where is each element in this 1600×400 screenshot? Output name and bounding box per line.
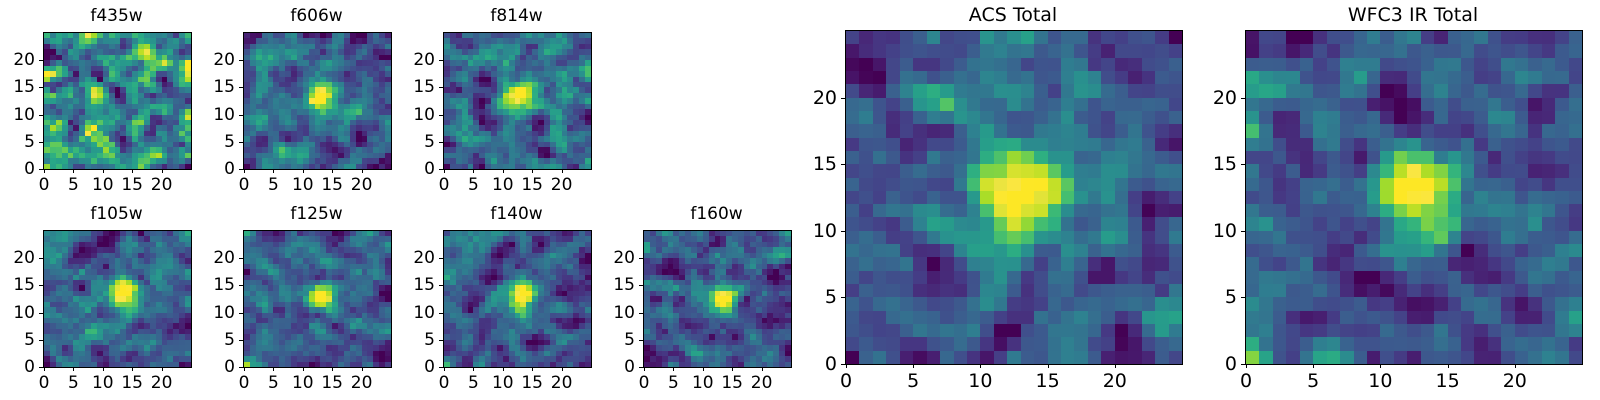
heatmap-cell (1088, 178, 1101, 191)
heatmap-cell (1021, 98, 1034, 111)
heatmap-cell (1074, 98, 1087, 111)
x-tick (762, 367, 763, 371)
heatmap-cell (980, 244, 993, 257)
heatmap-cell (1048, 164, 1061, 177)
heatmap-cell (846, 138, 859, 151)
heatmap-cell (1007, 164, 1020, 177)
heatmap-cell (1128, 217, 1141, 230)
heatmap-cell (1034, 191, 1047, 204)
heatmap-cell (900, 231, 913, 244)
y-tick-label: 15 (583, 275, 635, 295)
heatmap-cell (846, 217, 859, 230)
heatmap-cell (1061, 204, 1074, 217)
heatmap-cell (873, 178, 886, 191)
heatmap-cell (873, 164, 886, 177)
heatmap-cell (900, 244, 913, 257)
heatmap-cell (900, 178, 913, 191)
heatmap-cell (1034, 151, 1047, 164)
heatmap-cell (1088, 58, 1101, 71)
heatmap-cell (1007, 217, 1020, 230)
y-tick (239, 115, 243, 116)
heatmap-cell (1115, 58, 1128, 71)
heatmap-cell (1128, 178, 1141, 191)
heatmap-cell (846, 191, 859, 204)
heatmap-cell (1142, 231, 1155, 244)
heatmap-cell (1142, 84, 1155, 97)
x-tick-label: 0 (39, 175, 50, 195)
heatmap-cell (967, 98, 980, 111)
heatmap-cell (1155, 44, 1168, 57)
heatmap-cell (1007, 257, 1020, 270)
heatmap-cell (980, 71, 993, 84)
heatmap-cell (886, 44, 899, 57)
heatmap-cell (1155, 204, 1168, 217)
panel-f435w: f435w0055101015152020 (0, 6, 200, 202)
x-tick (332, 367, 333, 371)
heatmap-cell (954, 98, 967, 111)
panel-f606w: f606w0055101015152020 (183, 6, 400, 202)
heatmap-cell (994, 257, 1007, 270)
x-tick-label: 15 (721, 373, 743, 393)
x-tick (503, 169, 504, 173)
heatmap-cell (980, 151, 993, 164)
heatmap-cell (1101, 84, 1114, 97)
heatmap-cell (1021, 151, 1034, 164)
x-tick (703, 367, 704, 371)
heatmap-cell (859, 231, 872, 244)
heatmap-cell (900, 58, 913, 71)
heatmap-cell (1021, 257, 1034, 270)
y-tick (239, 285, 243, 286)
x-tick (473, 367, 474, 371)
x-tick-label: 15 (321, 373, 343, 393)
heatmap-cell (940, 244, 953, 257)
heatmap-cell (1169, 44, 1182, 57)
y-tick (39, 340, 43, 341)
heatmap-cell (1021, 164, 1034, 177)
y-tick-label: 10 (0, 303, 35, 323)
heatmap-cell (1074, 71, 1087, 84)
x-tick (162, 367, 163, 371)
heatmap-cell (1048, 231, 1061, 244)
heatmap-cell (1088, 44, 1101, 57)
heatmap-cell (940, 111, 953, 124)
heatmap-cell (1088, 244, 1101, 257)
heatmap-cell (1007, 178, 1020, 191)
heatmap-cell (967, 124, 980, 137)
heatmap-cell (873, 244, 886, 257)
heatmap-cell (1048, 217, 1061, 230)
heatmap-cell (940, 31, 953, 44)
heatmap-cell (913, 111, 926, 124)
heatmap-cell (1128, 71, 1141, 84)
y-tick (239, 340, 243, 341)
heatmap-cell (980, 58, 993, 71)
heatmap-cell (886, 204, 899, 217)
x-tick-label: 5 (68, 373, 79, 393)
x-tick-label: 10 (692, 373, 714, 393)
heatmap-cell (1142, 217, 1155, 230)
heatmap-cell (913, 44, 926, 57)
heatmap-cell (1021, 124, 1034, 137)
heatmap-cell (873, 151, 886, 164)
heatmap-cell (1021, 138, 1034, 151)
heatmap-cell (1101, 257, 1114, 270)
heatmap-cell (1074, 44, 1087, 57)
y-tick-label: 15 (183, 77, 235, 97)
heatmap-cell (1074, 138, 1087, 151)
heatmap-cell (940, 217, 953, 230)
heatmap-cell (913, 244, 926, 257)
heatmap-cell (873, 31, 886, 44)
heatmap-cell (1115, 257, 1128, 270)
heatmap-cell (1061, 191, 1074, 204)
heatmap-cell (1155, 111, 1168, 124)
axes-f105w (43, 230, 192, 368)
x-tick-label: 15 (121, 373, 143, 393)
x-tick (303, 169, 304, 173)
heatmap-cell (994, 124, 1007, 137)
heatmap-cell (1155, 138, 1168, 151)
heatmap-cell (1088, 98, 1101, 111)
heatmap-cell (954, 71, 967, 84)
heatmap-cell (940, 257, 953, 270)
heatmap-cell (1061, 58, 1074, 71)
heatmap-cell (859, 98, 872, 111)
panel-f814w: f814w0055101015152020 (383, 6, 600, 202)
heatmap-cell (886, 31, 899, 44)
heatmap-cell (927, 257, 940, 270)
heatmap-cell (967, 191, 980, 204)
heatmap-cell (1088, 31, 1101, 44)
x-tick-label: 10 (92, 373, 114, 393)
heatmap-cell (859, 244, 872, 257)
heatmap-cell (1021, 231, 1034, 244)
heatmap-cell (954, 257, 967, 270)
y-tick-label: 20 (383, 248, 435, 268)
heatmap-cell (1088, 138, 1101, 151)
heatmap-cell (913, 71, 926, 84)
heatmap-cell (886, 178, 899, 191)
heatmap-cell (940, 58, 953, 71)
heatmap-cell (1007, 58, 1020, 71)
heatmap-cell (967, 217, 980, 230)
y-tick (239, 142, 243, 143)
heatmap-cell (859, 191, 872, 204)
y-tick-label: 20 (183, 50, 235, 70)
heatmap-cell (859, 111, 872, 124)
y-tick-label: 5 (183, 330, 235, 350)
x-tick-label: 5 (268, 373, 279, 393)
heatmap-cell (1007, 191, 1020, 204)
heatmap-cell (1048, 151, 1061, 164)
heatmap-cell (1021, 217, 1034, 230)
heatmap-cell (1088, 71, 1101, 84)
y-tick-label: 0 (183, 357, 235, 377)
heatmap-cell (1101, 244, 1114, 257)
heatmap-cell (1115, 111, 1128, 124)
heatmap-cell (1007, 98, 1020, 111)
x-tick (103, 169, 104, 173)
heatmap-cell (1021, 71, 1034, 84)
heatmap-cell (1115, 244, 1128, 257)
heatmap-cell (1101, 71, 1114, 84)
heatmap-cell (927, 98, 940, 111)
y-tick-label: 0 (383, 159, 435, 179)
heatmap-cell (1142, 58, 1155, 71)
x-tick (532, 367, 533, 371)
heatmap-cell (873, 71, 886, 84)
heatmap-cell (1007, 231, 1020, 244)
heatmap-cell (1128, 98, 1141, 111)
heatmap-cell (1007, 71, 1020, 84)
heatmap-cell (927, 151, 940, 164)
x-tick-label: 20 (351, 175, 373, 195)
heatmap-cell (913, 98, 926, 111)
heatmap-cell (994, 71, 1007, 84)
heatmap-cell (1074, 244, 1087, 257)
heatmap-cell (900, 44, 913, 57)
panel-title-f105w: f105w (43, 204, 190, 224)
heatmap-cell (1061, 231, 1074, 244)
heatmap-cell (1101, 58, 1114, 71)
heatmap-cell (873, 44, 886, 57)
heatmap-cell (927, 178, 940, 191)
heatmap-cell (846, 178, 859, 191)
heatmap-cell (1155, 71, 1168, 84)
heatmap-cell (967, 138, 980, 151)
heatmap-cell (1061, 217, 1074, 230)
heatmap-cell (1021, 31, 1034, 44)
heatmap-cell (967, 111, 980, 124)
heatmap-cell (980, 98, 993, 111)
heatmap-cell (1088, 151, 1101, 164)
heatmap-cell (886, 151, 899, 164)
heatmap-cell (1088, 111, 1101, 124)
x-tick-label: 5 (268, 175, 279, 195)
heatmap-cell (846, 257, 859, 270)
heatmap-cell (1142, 178, 1155, 191)
heatmap-cell (1061, 257, 1074, 270)
y-tick (239, 367, 243, 368)
panel-f140w: f140w0055101015152020 (383, 204, 600, 400)
heatmap-cell (1034, 124, 1047, 137)
heatmap-cell (859, 31, 872, 44)
heatmap-cell (954, 244, 967, 257)
heatmap-cell (886, 244, 899, 257)
heatmap-cell (913, 164, 926, 177)
heatmap-cell (1115, 98, 1128, 111)
heatmap-cell (1155, 217, 1168, 230)
y-tick-label: 20 (383, 50, 435, 70)
x-tick-label: 20 (551, 373, 573, 393)
heatmap-cell (927, 124, 940, 137)
heatmap-cell (1142, 31, 1155, 44)
heatmap-cell (1088, 204, 1101, 217)
heatmap-cell (1021, 58, 1034, 71)
heatmap-cell (859, 124, 872, 137)
heatmap-cell (954, 204, 967, 217)
heatmap-cell (859, 257, 872, 270)
heatmap-cell (873, 257, 886, 270)
heatmap-cell (1155, 98, 1168, 111)
heatmap-cell (1074, 191, 1087, 204)
heatmap-cell (994, 191, 1007, 204)
heatmap-cell (886, 111, 899, 124)
heatmap-cell (1048, 71, 1061, 84)
y-tick (439, 115, 443, 116)
heatmap-cell (1007, 138, 1020, 151)
heatmap-cell (1115, 138, 1128, 151)
y-tick (439, 87, 443, 88)
heatmap-cell (873, 231, 886, 244)
axes-acs-total (845, 30, 1183, 365)
heatmap-cell (1061, 84, 1074, 97)
heatmap-cell (1048, 84, 1061, 97)
heatmap-cell (913, 58, 926, 71)
heatmap-cell (1074, 31, 1087, 44)
heatmap-cell (846, 204, 859, 217)
heatmap-cell (913, 84, 926, 97)
y-tick-label: 20 (583, 248, 635, 268)
y-tick-label: 15 (183, 275, 235, 295)
x-tick (73, 367, 74, 371)
heatmap-cell (900, 98, 913, 111)
heatmap-cell (873, 138, 886, 151)
y-tick (39, 169, 43, 170)
heatmap-cell (873, 111, 886, 124)
heatmap-cell (1101, 138, 1114, 151)
heatmap-cell (1155, 31, 1168, 44)
panel-title-f606w: f606w (243, 6, 390, 26)
heatmap-cell (886, 138, 899, 151)
y-tick (39, 313, 43, 314)
heatmap-cell (1061, 98, 1074, 111)
x-tick-label: 20 (551, 175, 573, 195)
x-tick (362, 169, 363, 173)
y-tick-label: 20 (0, 50, 35, 70)
heatmap-cell (1169, 58, 1182, 71)
heatmap-cell (994, 164, 1007, 177)
heatmap-cell (967, 231, 980, 244)
x-tick-label: 5 (668, 373, 679, 393)
heatmap-cell (1128, 244, 1141, 257)
x-tick-label: 20 (351, 373, 373, 393)
x-tick (562, 169, 563, 173)
heatmap-cell (1101, 164, 1114, 177)
heatmap-cell (967, 244, 980, 257)
heatmap-cell (927, 191, 940, 204)
heatmap-cell (900, 84, 913, 97)
heatmap-cell (954, 44, 967, 57)
heatmap-cell (1007, 31, 1020, 44)
heatmap-cell (927, 231, 940, 244)
heatmap-cell (927, 84, 940, 97)
y-tick-label: 5 (583, 330, 635, 350)
heatmap-cell (1061, 164, 1074, 177)
heatmap-cell (927, 164, 940, 177)
heatmap-cell (927, 111, 940, 124)
heatmap-cell (1074, 257, 1087, 270)
heatmap-cell (846, 164, 859, 177)
heatmap-cell (980, 257, 993, 270)
heatmap-cell (1169, 31, 1182, 44)
x-tick (44, 169, 45, 173)
heatmap-cell (954, 191, 967, 204)
heatmap-cell (994, 44, 1007, 57)
heatmap-cell (1142, 204, 1155, 217)
heatmap-cell (940, 178, 953, 191)
heatmap-cell (1034, 98, 1047, 111)
y-tick-label: 10 (0, 105, 35, 125)
heatmap-cell (1061, 244, 1074, 257)
heatmap-f814w (444, 33, 591, 169)
heatmap-cell (940, 191, 953, 204)
y-tick-label: 0 (183, 159, 235, 179)
heatmap-cell (1155, 257, 1168, 270)
heatmap-cell (1169, 71, 1182, 84)
heatmap-cell (585, 164, 591, 169)
heatmap-cell (886, 124, 899, 137)
heatmap-cell (900, 71, 913, 84)
heatmap-cell (1155, 164, 1168, 177)
y-tick (39, 60, 43, 61)
heatmap-cell (1142, 244, 1155, 257)
heatmap-cell (886, 58, 899, 71)
heatmap-cell (1142, 138, 1155, 151)
heatmap-cell (1155, 84, 1168, 97)
y-tick-label: 15 (0, 275, 35, 295)
heatmap-cell (1034, 84, 1047, 97)
y-tick-label: 15 (383, 275, 435, 295)
x-tick (362, 367, 363, 371)
heatmap-cell (846, 124, 859, 137)
heatmap-cell (846, 231, 859, 244)
heatmap-cell (1021, 244, 1034, 257)
heatmap-cell (1074, 217, 1087, 230)
heatmap-cell (994, 204, 1007, 217)
heatmap-cell (900, 217, 913, 230)
y-tick (639, 258, 643, 259)
heatmap-cell (859, 178, 872, 191)
heatmap-cell (994, 138, 1007, 151)
heatmap-f125w (244, 231, 391, 367)
axes-f606w (243, 32, 392, 170)
y-tick (39, 258, 43, 259)
x-tick (444, 169, 445, 173)
heatmap-cell (1115, 191, 1128, 204)
heatmap-cell (1142, 164, 1155, 177)
heatmap-cell (940, 44, 953, 57)
heatmap-cell (1061, 31, 1074, 44)
x-tick (44, 367, 45, 371)
x-tick-label: 10 (292, 175, 314, 195)
heatmap-cell (1128, 44, 1141, 57)
heatmap-cell (980, 164, 993, 177)
panel-title-f435w: f435w (43, 6, 190, 26)
heatmap-cell (927, 58, 940, 71)
y-tick (639, 313, 643, 314)
heatmap-cell (1155, 244, 1168, 257)
y-tick (439, 313, 443, 314)
heatmap-cell (940, 231, 953, 244)
panel-title-f814w: f814w (443, 6, 590, 26)
heatmap-cell (846, 44, 859, 57)
heatmap-cell (1169, 204, 1182, 217)
x-tick (244, 169, 245, 173)
heatmap-cell (927, 138, 940, 151)
heatmap-cell (1021, 204, 1034, 217)
